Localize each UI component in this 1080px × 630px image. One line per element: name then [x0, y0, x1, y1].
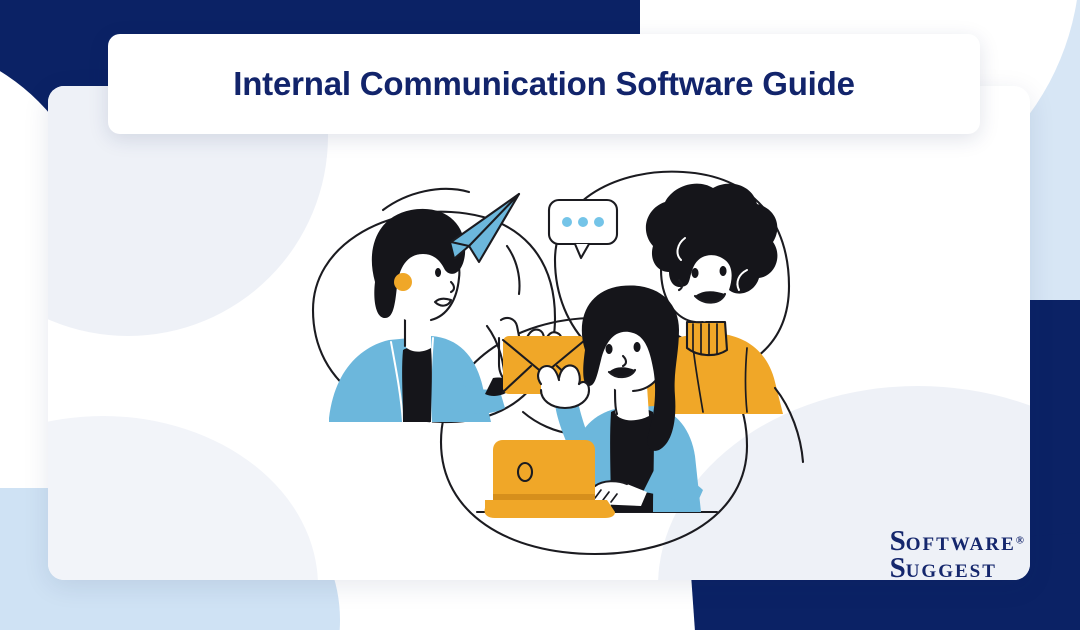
eye [435, 268, 441, 277]
chat-dot-3 [594, 217, 604, 227]
banner-stage: Internal Communication Software Guide .l… [0, 0, 1080, 630]
page-title: Internal Communication Software Guide [233, 65, 855, 103]
chat-dot-1 [562, 217, 572, 227]
registered-icon: ® [1016, 534, 1024, 546]
illustration-svg: .ln{fill:none;stroke:#1b1b20;stroke-widt… [255, 150, 815, 570]
earring [394, 273, 412, 291]
chat-bubble-icon [549, 200, 617, 258]
brand-logo[interactable]: SOFTWARE® SUGGEST [890, 528, 1024, 582]
chat-dot-2 [578, 217, 588, 227]
logo-line-2: SUGGEST [890, 555, 1024, 582]
hero-illustration: .ln{fill:none;stroke:#1b1b20;stroke-widt… [255, 150, 815, 570]
logo-suggest-text: UGGEST [906, 561, 997, 582]
logo-s-2: S [890, 552, 906, 584]
title-card: Internal Communication Software Guide [108, 34, 980, 134]
logo-software-text: OFTWARE [906, 534, 1016, 555]
logo-line-1: SOFTWARE® [890, 528, 1024, 555]
